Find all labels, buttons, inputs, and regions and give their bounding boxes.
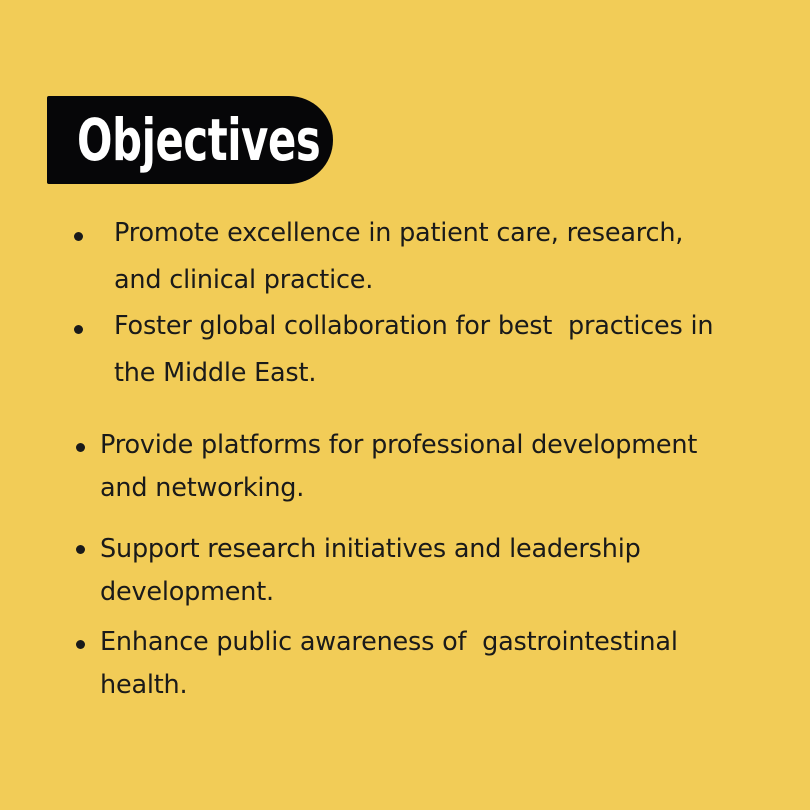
bullet-dot-icon bbox=[76, 443, 85, 452]
list-item-label: Enhance public awareness of gastrointest… bbox=[100, 621, 740, 707]
bullet-dot-icon bbox=[74, 232, 83, 241]
bullet-dot-icon bbox=[76, 545, 85, 554]
objectives-slide: Objectives Promote excellence in patient… bbox=[0, 0, 810, 810]
bullet-dot-icon bbox=[74, 325, 83, 334]
list-item-label: Provide platforms for professional devel… bbox=[100, 424, 740, 510]
bullet-dot-icon bbox=[76, 640, 85, 649]
list-item-label: Promote excellence in patient care, rese… bbox=[114, 210, 734, 304]
page-title: Objectives bbox=[77, 111, 320, 169]
list-item-label: Foster global collaboration for best pra… bbox=[114, 303, 734, 397]
list-item-label: Support research initiatives and leaders… bbox=[100, 528, 740, 614]
title-banner: Objectives bbox=[47, 96, 333, 184]
